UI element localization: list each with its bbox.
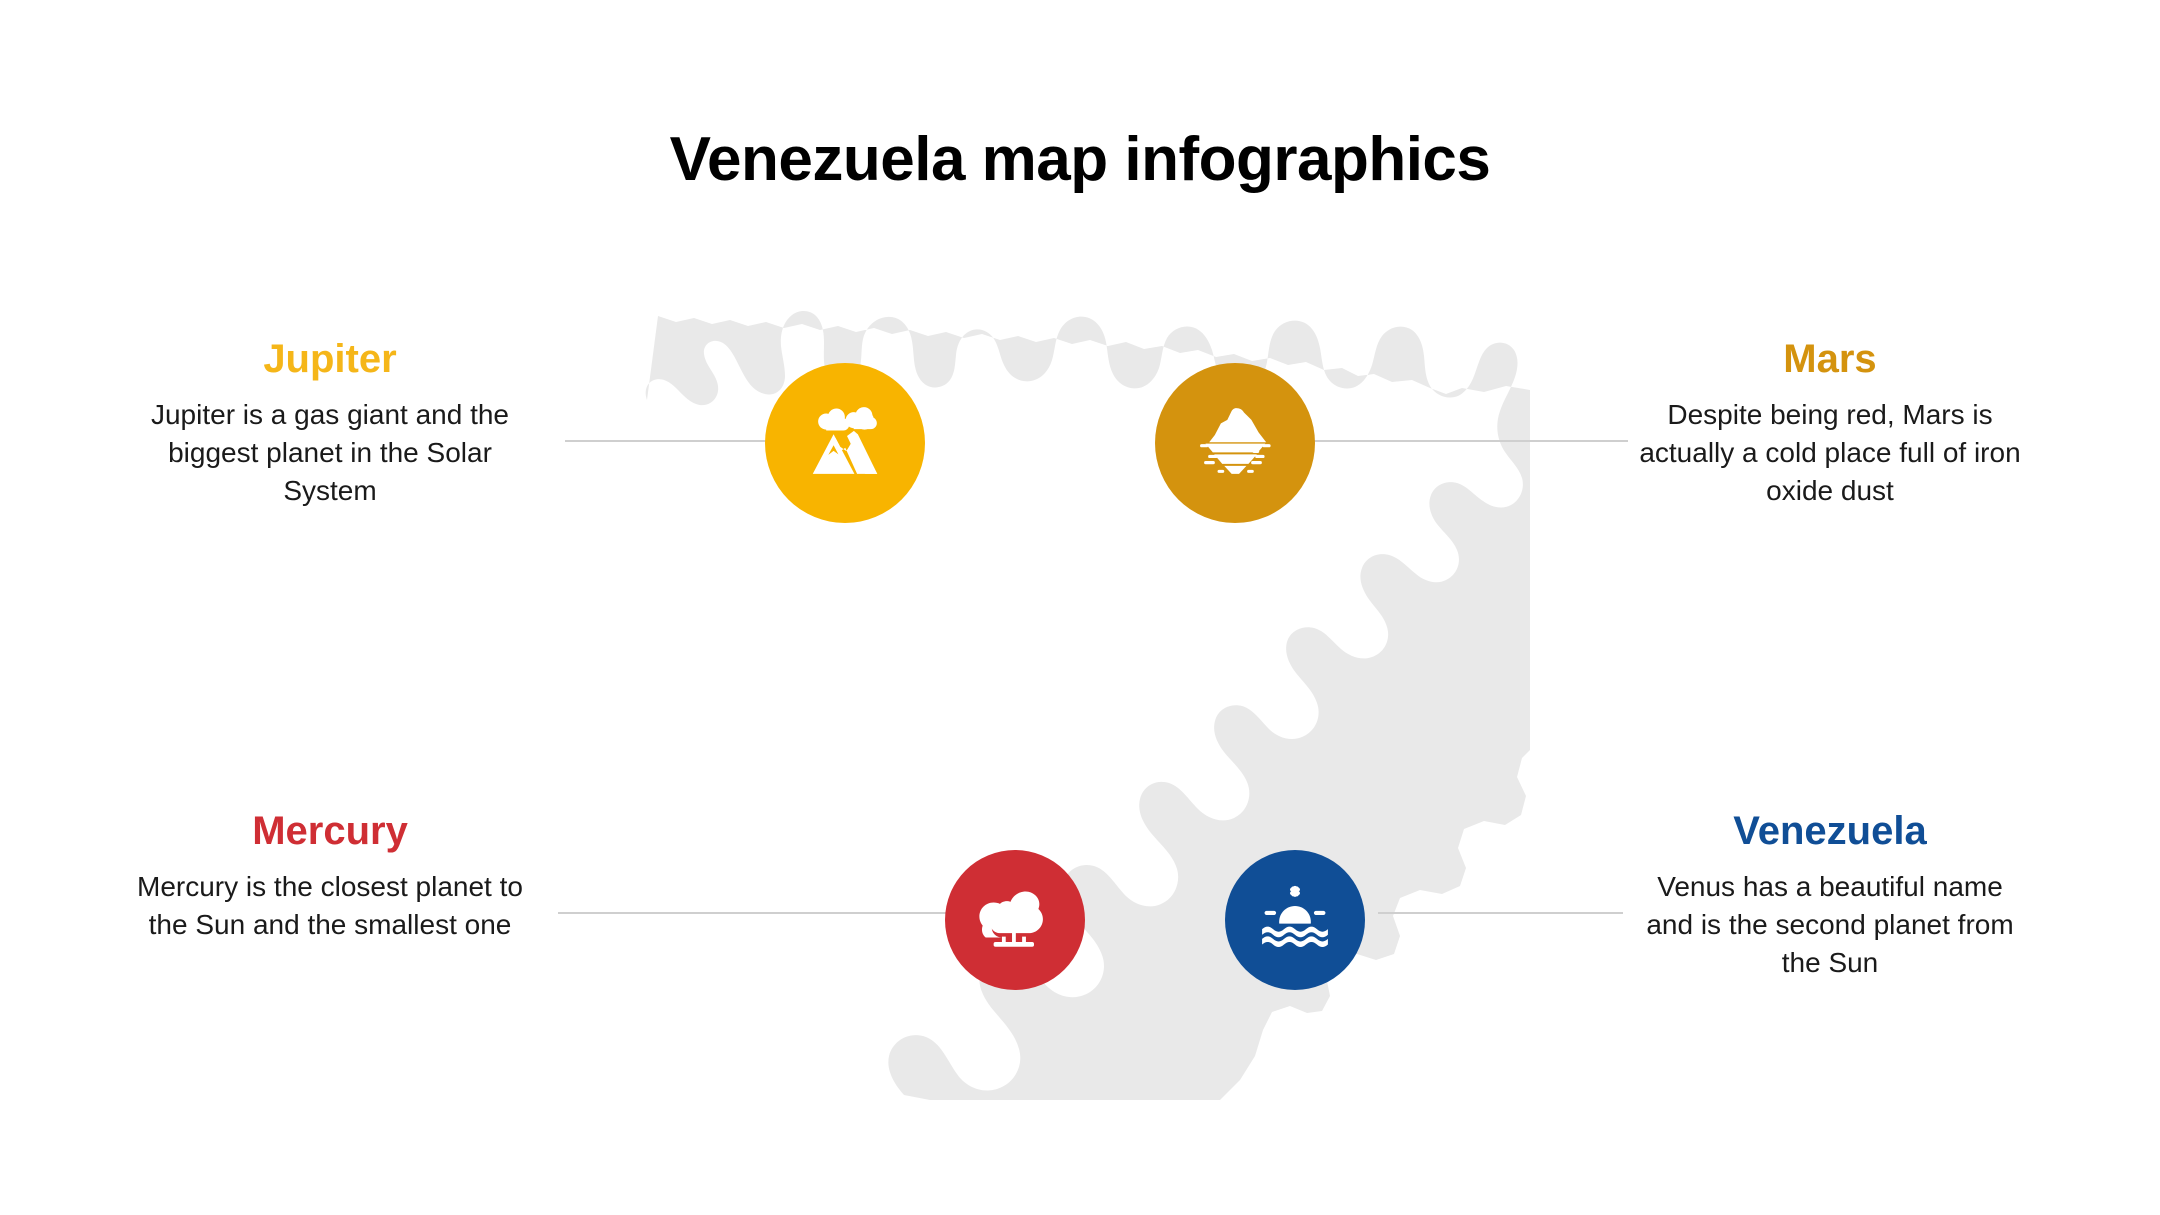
venezuela-map — [600, 270, 1530, 1100]
body-jupiter: Jupiter is a gas giant and the biggest p… — [130, 396, 530, 510]
connector-line-mars — [1288, 440, 1628, 442]
badge-jupiter[interactable] — [765, 363, 925, 523]
iceberg-island-icon — [1192, 400, 1278, 486]
badge-mercury[interactable] — [945, 850, 1085, 990]
badge-venezuela[interactable] — [1225, 850, 1365, 990]
trees-forest-icon — [977, 882, 1053, 958]
body-venezuela: Venus has a beautiful name and is the se… — [1630, 868, 2030, 982]
sunrise-water-icon — [1256, 881, 1334, 959]
connector-line-jupiter — [565, 440, 780, 442]
info-block-mars: Mars Despite being red, Mars is actually… — [1630, 336, 2030, 510]
heading-jupiter: Jupiter — [130, 336, 530, 382]
body-mars: Despite being red, Mars is actually a co… — [1630, 396, 2030, 510]
body-mercury: Mercury is the closest planet to the Sun… — [130, 868, 530, 944]
mountains-clouds-sun-icon — [802, 400, 888, 486]
connector-line-mercury — [558, 912, 948, 914]
page-title: Venezuela map infographics — [0, 126, 2160, 194]
info-block-jupiter: Jupiter Jupiter is a gas giant and the b… — [130, 336, 530, 510]
info-block-mercury: Mercury Mercury is the closest planet to… — [130, 808, 530, 944]
info-block-venezuela: Venezuela Venus has a beautiful name and… — [1630, 808, 2030, 982]
badge-mars[interactable] — [1155, 363, 1315, 523]
heading-mars: Mars — [1630, 336, 2030, 382]
connector-line-venezuela — [1378, 912, 1623, 914]
heading-venezuela: Venezuela — [1630, 808, 2030, 854]
heading-mercury: Mercury — [130, 808, 530, 854]
